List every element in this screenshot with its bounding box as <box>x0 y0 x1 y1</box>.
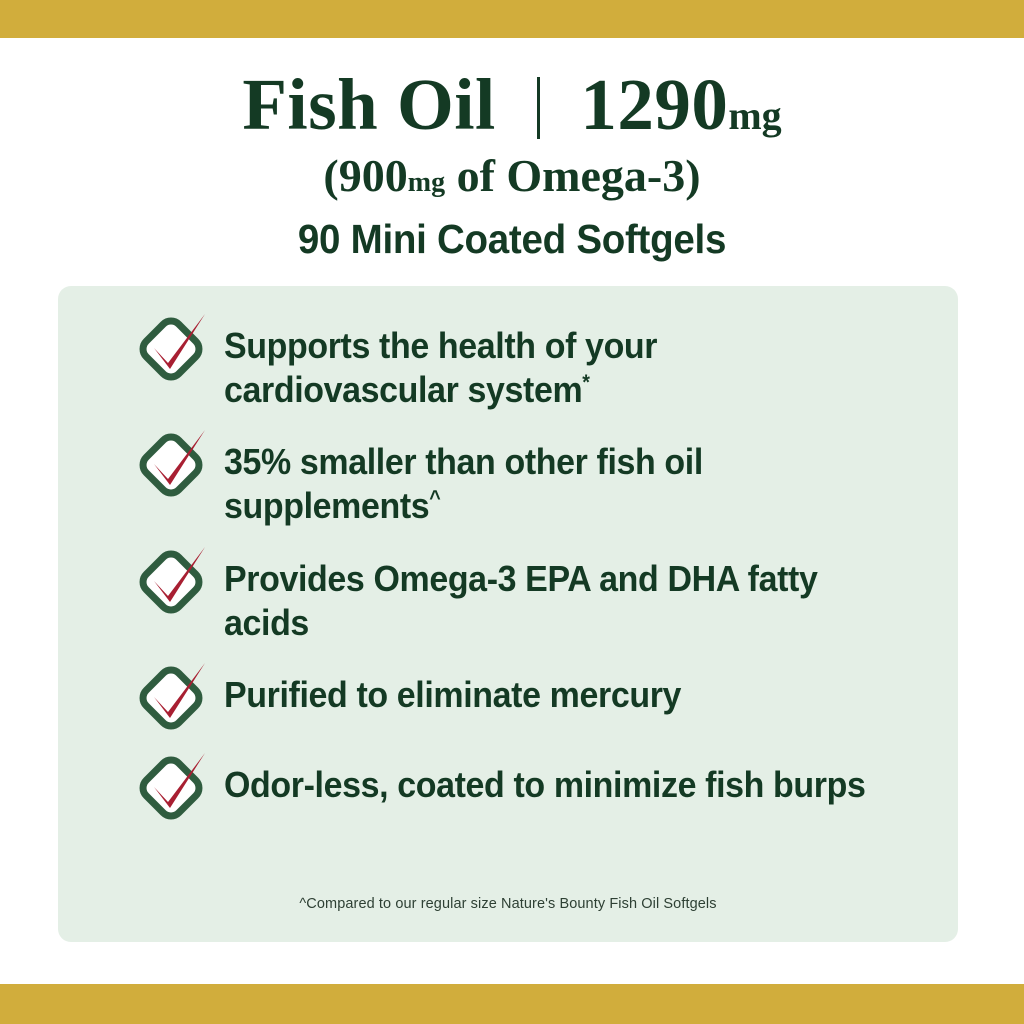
benefit-text: Purified to eliminate mercury <box>224 667 879 717</box>
benefit-item: 35% smaller than other fish oil suppleme… <box>134 434 928 528</box>
product-header: Fish Oil 1290mg (900mg of Omega-3) 90 Mi… <box>0 38 1024 265</box>
checkmark-diamond-icon <box>134 428 208 502</box>
benefit-item: Purified to eliminate mercury <box>134 667 928 735</box>
softgel-count-line: 90 Mini Coated Softgels <box>31 215 994 264</box>
omega-subtitle: (900mg of Omega-3) <box>0 150 1024 203</box>
checkmark-diamond-icon <box>134 312 208 386</box>
strength-value: 1290 <box>580 64 728 145</box>
omega-prefix: (900 <box>323 150 407 201</box>
benefit-text: 35% smaller than other fish oil suppleme… <box>224 434 879 528</box>
bottom-gold-bar <box>0 984 1024 1024</box>
strength-unit: mg <box>728 93 781 138</box>
footnote-text: ^Compared to our regular size Nature's B… <box>58 896 958 912</box>
checkmark-diamond-icon <box>134 545 208 619</box>
product-name: Fish Oil <box>242 64 495 145</box>
title-divider <box>537 77 540 139</box>
benefit-marker: * <box>582 371 589 394</box>
top-gold-bar <box>0 0 1024 38</box>
checkmark-diamond-icon <box>134 751 208 825</box>
benefit-item: Supports the health of your cardiovascul… <box>134 318 928 412</box>
omega-unit: mg <box>408 167 445 198</box>
omega-suffix: of Omega-3) <box>445 150 700 201</box>
benefit-item: Odor-less, coated to minimize fish burps <box>134 757 928 825</box>
benefit-text: Odor-less, coated to minimize fish burps <box>224 757 879 807</box>
benefit-text: Provides Omega-3 EPA and DHA fatty acids <box>224 551 879 645</box>
benefit-marker: ^ <box>429 487 440 510</box>
checkmark-diamond-icon <box>134 661 208 735</box>
benefits-panel: Supports the health of your cardiovascul… <box>58 286 958 942</box>
benefit-text: Supports the health of your cardiovascul… <box>224 318 879 412</box>
product-title-line: Fish Oil 1290mg <box>0 68 1024 142</box>
benefit-item: Provides Omega-3 EPA and DHA fatty acids <box>134 551 928 645</box>
